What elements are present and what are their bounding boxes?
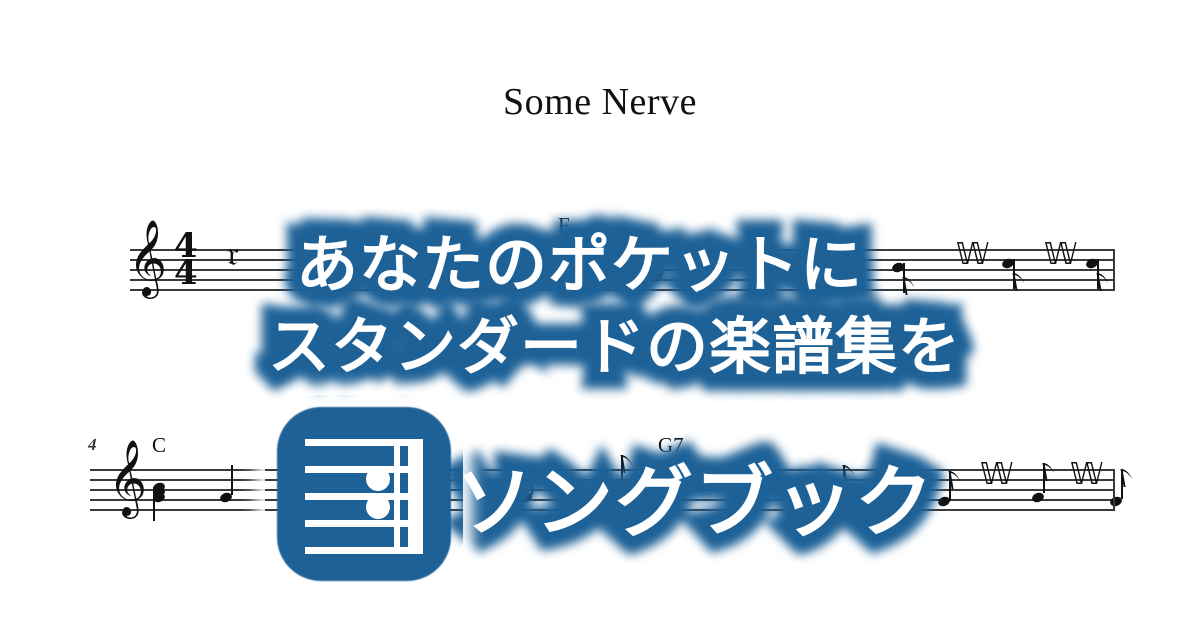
staff-line [90,479,1115,481]
treble-clef-icon: 𝄞 [128,225,167,291]
eighth-rest-icon: 𝕎 [980,460,1013,490]
staff-line [130,279,1115,281]
time-signature: 4 4 [174,233,198,286]
logo-repeat-staff-icon [277,407,451,581]
eighth-rest-icon: 𝕎 [490,240,523,270]
time-signature-denominator: 4 [174,260,198,287]
measure-number: 4 [88,435,97,455]
quarter-rest-icon: 𝔯 [227,237,239,271]
staff-lines-1: 𝄞 4 4 F 𝔯 𝕎 𝕎 [130,249,1115,289]
final-barline [1113,469,1115,511]
staff-system-1: 𝄞 4 4 F 𝔯 𝕎 𝕎 [130,249,1115,289]
eighth-rest-icon: 𝕎 [956,240,989,270]
staff-line [90,509,1115,511]
eighth-rest-icon: 𝕎 [1070,460,1103,490]
songbook-logo [277,407,451,581]
chord-symbol-g7: G7 [658,433,684,458]
chord-symbol-c: C [152,433,166,458]
chord-symbol-f: F [558,213,570,238]
sheet-music-layer: Some Nerve 𝄞 4 4 F 𝔯 [0,0,1200,630]
staff-line [130,289,1115,291]
staff-system-2: 4 𝄞 C G7 [90,469,1115,509]
staff-lines-2: 4 𝄞 C G7 [90,469,1115,509]
final-barline [1113,249,1115,291]
score-title: Some Nerve [0,80,1200,124]
ogp-canvas: Some Nerve 𝄞 4 4 F 𝔯 [0,0,1200,630]
staff-line [90,499,1115,501]
staff-line [90,489,1115,491]
staff-line [90,469,1115,471]
eighth-rest-icon: 𝕎 [1044,240,1077,270]
treble-clef-icon: 𝄞 [108,445,147,511]
